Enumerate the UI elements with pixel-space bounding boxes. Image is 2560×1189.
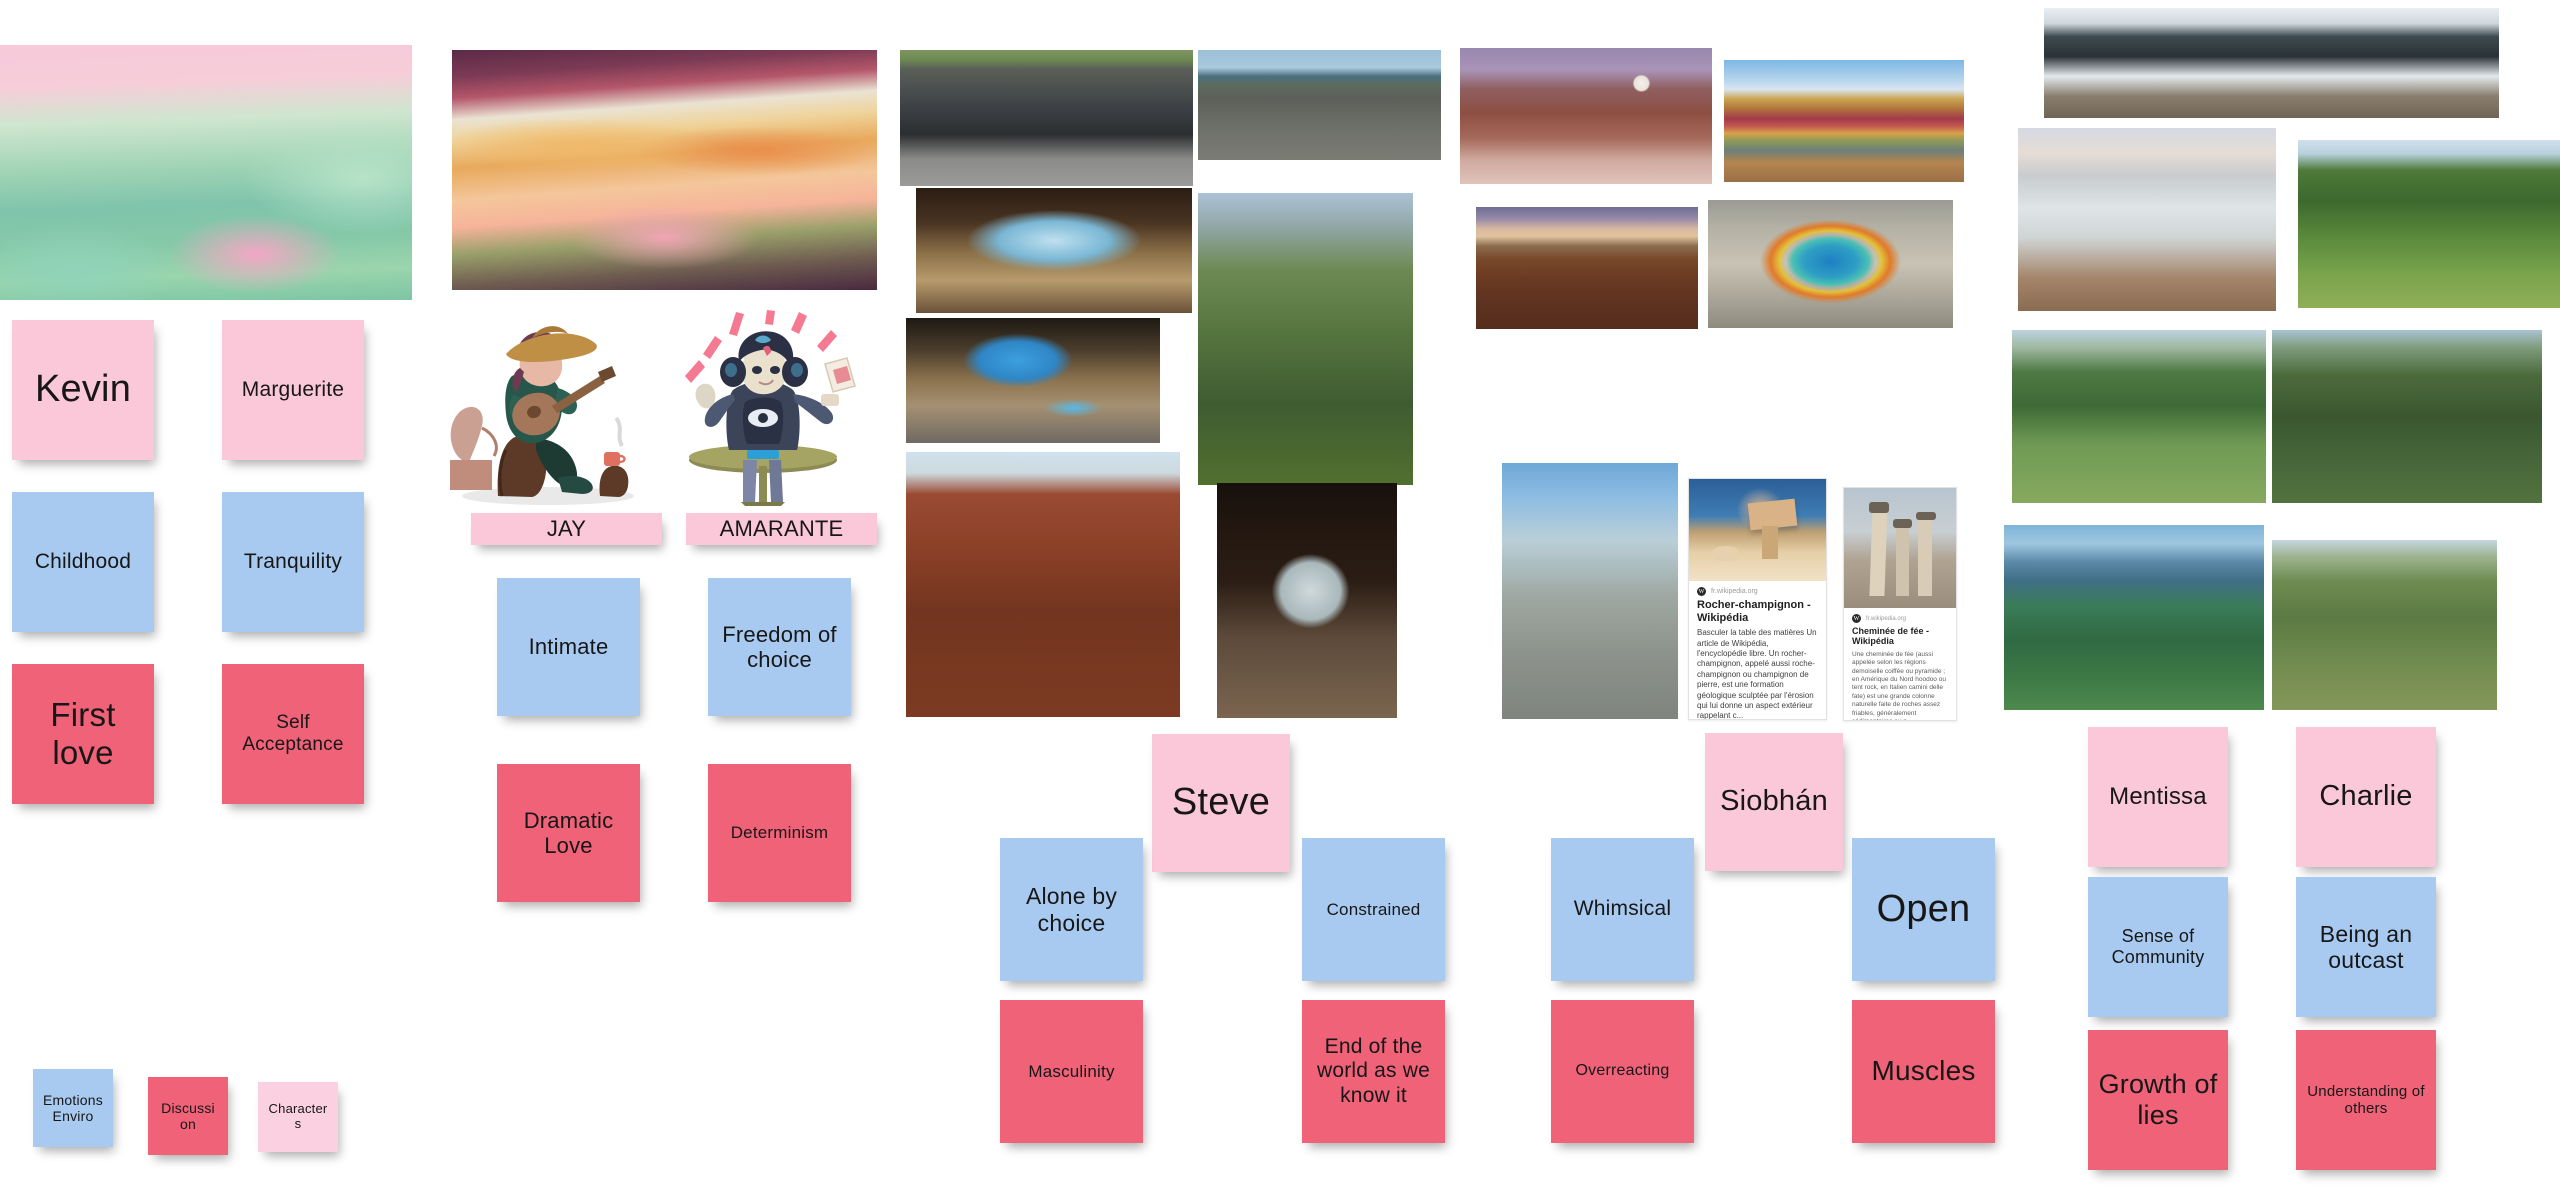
note-marguerite[interactable]: Marguerite — [222, 320, 364, 460]
image-photo-waterfall-cliff[interactable] — [2272, 330, 2542, 503]
note-childhood[interactable]: Childhood — [12, 492, 154, 632]
wiki-card-rocher-champignon[interactable]: W fr.wikipedia.org Rocher-champignon - W… — [1688, 478, 1827, 720]
note-being-an-outcast[interactable]: Being an outcast — [2296, 877, 2436, 1017]
image-photo-horseshoe-bend[interactable] — [906, 452, 1180, 717]
wiki-source-cheminee-de-fee: W fr.wikipedia.org — [1852, 614, 1948, 623]
image-photo-moon-desert[interactable] — [1460, 48, 1712, 184]
legend-emotions-enviro[interactable]: Emotions Enviro — [33, 1069, 113, 1147]
wiki-card-cheminee-de-fee[interactable]: W fr.wikipedia.org Cheminée de fée - Wik… — [1843, 487, 1957, 721]
note-end-of-world[interactable]: End of the world as we know it — [1302, 1000, 1445, 1143]
image-photo-snow-crater[interactable] — [2044, 8, 2499, 118]
note-mentissa[interactable]: Mentissa — [2088, 727, 2228, 867]
note-siobhan[interactable]: Siobhán — [1705, 733, 1843, 871]
image-photo-gorge[interactable] — [1198, 193, 1413, 485]
image-photo-crater-lake-snow[interactable] — [2018, 128, 2276, 311]
note-kevin[interactable]: Kevin — [12, 320, 154, 460]
wiki-source-rocher-champignon: W fr.wikipedia.org — [1697, 587, 1818, 596]
wiki-snippet-rocher-champignon: Basculer la table des matières Un articl… — [1697, 628, 1818, 720]
note-whimsical[interactable]: Whimsical — [1551, 838, 1694, 981]
wiki-thumb-rocher-champignon — [1689, 479, 1826, 581]
note-constrained[interactable]: Constrained — [1302, 838, 1445, 981]
image-character-amarante[interactable] — [655, 310, 870, 510]
note-open[interactable]: Open — [1852, 838, 1995, 981]
note-self-acceptance[interactable]: Self Acceptance — [222, 664, 364, 804]
image-illustration-sunset[interactable] — [452, 50, 877, 290]
note-growth-of-lies[interactable]: Growth of lies — [2088, 1030, 2228, 1170]
image-photo-cave-mouth[interactable] — [916, 188, 1192, 313]
legend-discussion[interactable]: Discussion — [148, 1077, 228, 1155]
note-sense-of-community[interactable]: Sense of Community — [2088, 877, 2228, 1017]
image-character-jay[interactable] — [440, 310, 650, 510]
wiki-title-rocher-champignon[interactable]: Rocher-champignon - Wikipédia — [1697, 599, 1818, 624]
note-muscles[interactable]: Muscles — [1852, 1000, 1995, 1143]
note-amarante[interactable]: AMARANTE — [686, 513, 877, 545]
wiki-snippet-cheminee-de-fee: Une cheminée de fée (aussi appelée selon… — [1852, 651, 1948, 721]
image-photo-moorland[interactable] — [2272, 540, 2497, 710]
image-photo-fjord[interactable] — [2004, 525, 2264, 710]
moodboard-canvas[interactable]: Kevin Marguerite Childhood Tranquility F… — [0, 0, 2560, 1189]
note-freedom-of-choice[interactable]: Freedom of choice — [708, 578, 851, 716]
image-photo-basalt-columns[interactable] — [900, 50, 1193, 186]
wiki-thumb-cheminee-de-fee — [1844, 488, 1956, 608]
note-tranquility[interactable]: Tranquility — [222, 492, 364, 632]
note-overreacting[interactable]: Overreacting — [1551, 1000, 1694, 1143]
image-photo-grand-prismatic[interactable] — [1708, 200, 1953, 328]
note-intimate[interactable]: Intimate — [497, 578, 640, 716]
image-photo-giants-causeway[interactable] — [1198, 50, 1441, 160]
legend-characters[interactable]: Characters — [258, 1082, 338, 1152]
wikipedia-logo-icon: W — [1852, 614, 1861, 623]
note-masculinity[interactable]: Masculinity — [1000, 1000, 1143, 1143]
note-determinism[interactable]: Determinism — [708, 764, 851, 902]
note-dramatic-love[interactable]: Dramatic Love — [497, 764, 640, 902]
image-photo-uluru[interactable] — [1476, 207, 1698, 329]
wikipedia-logo-icon: W — [1697, 587, 1706, 596]
image-photo-geyser[interactable] — [1502, 463, 1678, 719]
image-photo-sea-cave[interactable] — [1217, 483, 1397, 718]
note-alone-by-choice[interactable]: Alone by choice — [1000, 838, 1143, 981]
image-photo-rainbow-mountain[interactable] — [1724, 60, 1964, 182]
note-understanding-of-others[interactable]: Understanding of others — [2296, 1030, 2436, 1170]
image-photo-rock-arch[interactable] — [906, 318, 1160, 443]
note-charlie[interactable]: Charlie — [2296, 727, 2436, 867]
image-photo-alpine-tarns[interactable] — [2012, 330, 2266, 503]
note-steve[interactable]: Steve — [1152, 734, 1290, 872]
image-illustration-pond[interactable] — [0, 45, 412, 300]
image-photo-green-ridge-hiker[interactable] — [2298, 140, 2560, 308]
note-first-love[interactable]: First love — [12, 664, 154, 804]
wiki-title-cheminee-de-fee[interactable]: Cheminée de fée - Wikipédia — [1852, 626, 1948, 647]
note-jay[interactable]: JAY — [471, 513, 662, 545]
